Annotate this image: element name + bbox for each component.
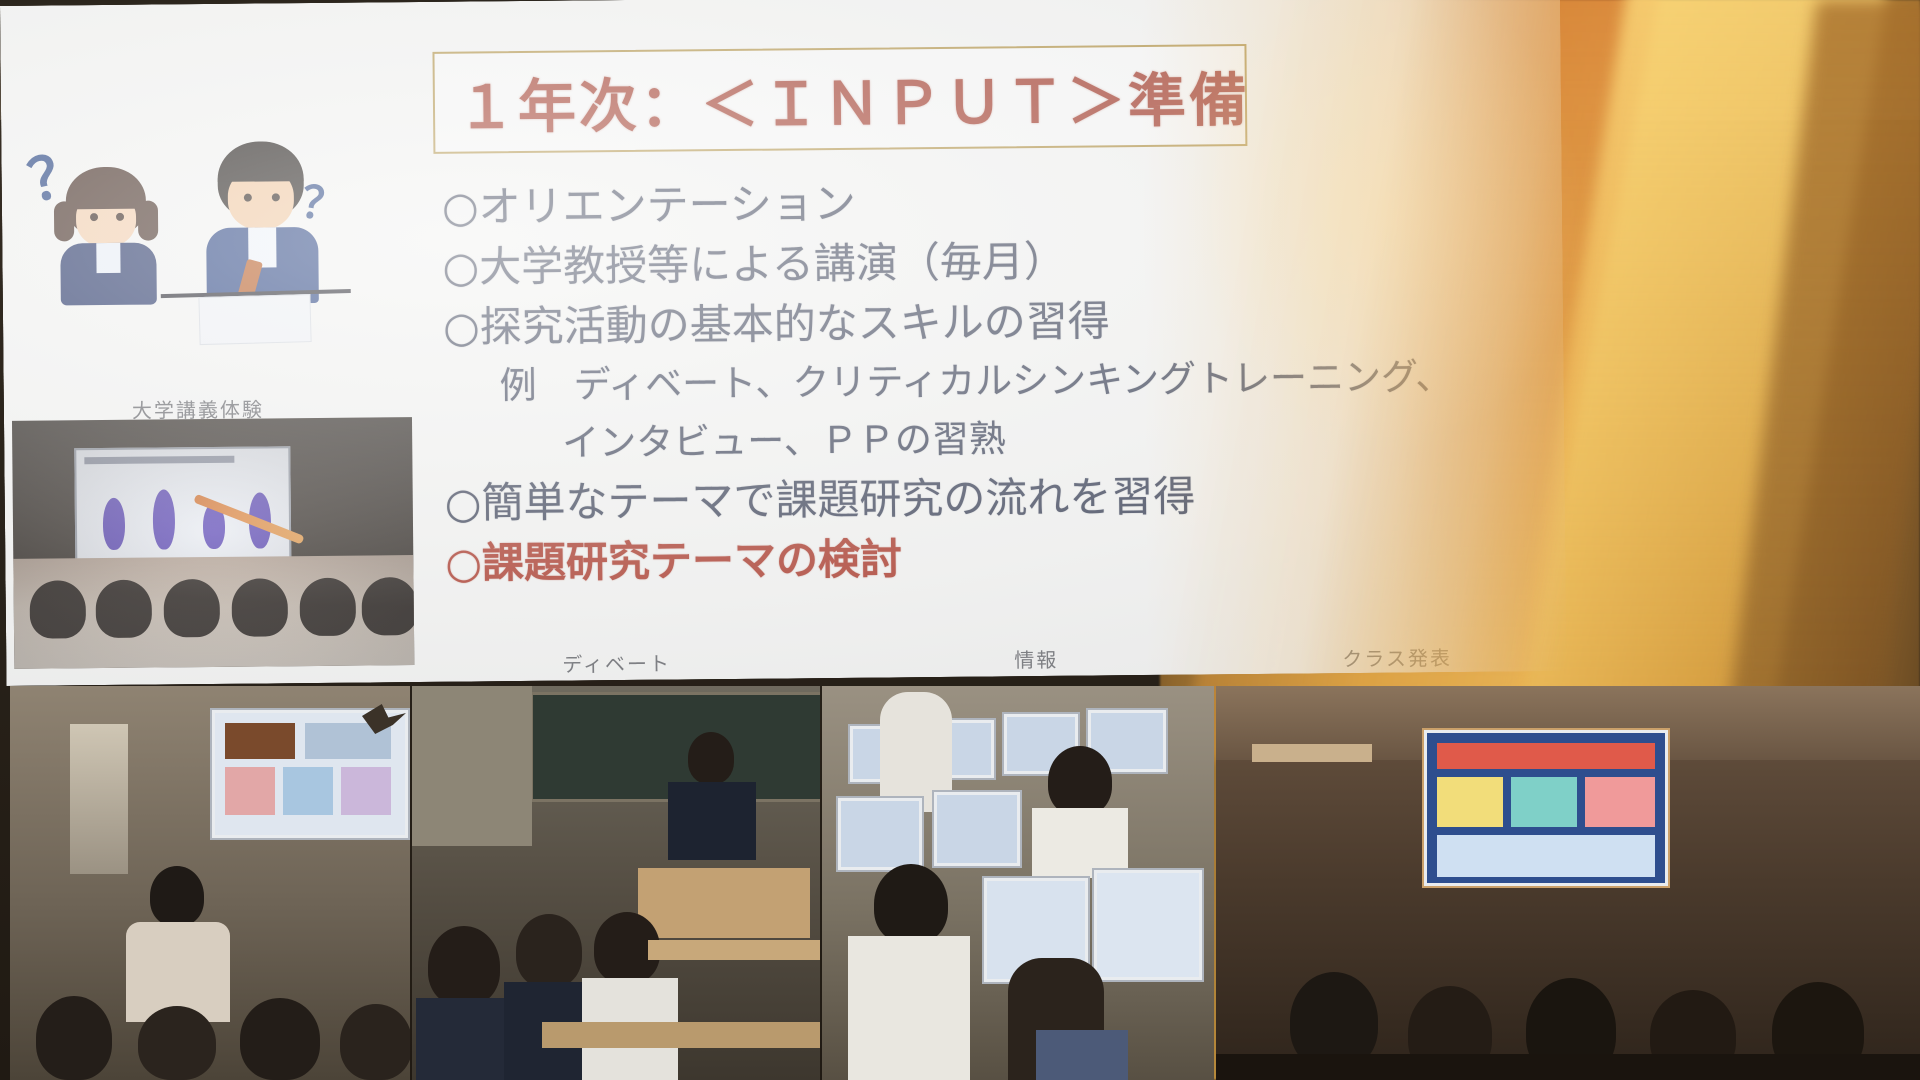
window-light	[70, 724, 128, 874]
worksheet-paper	[198, 294, 311, 345]
student-standing	[688, 732, 734, 784]
desk-row	[542, 1022, 820, 1048]
light-fixture	[1252, 744, 1372, 762]
caption-debate: ディベート	[562, 648, 671, 678]
student-girl-figure	[9, 123, 359, 126]
monitor-front-2	[1092, 868, 1204, 982]
presentation-display	[1422, 728, 1670, 888]
example-line-1: 例 ディベート、クリティカルシンキングトレーニング、	[443, 350, 1304, 416]
student-seated-2	[516, 914, 582, 988]
bullet-simple-theme: ○簡単なテーマで課題研究の流れを習得	[445, 465, 1306, 533]
desk-front	[638, 868, 810, 938]
student-back-1	[1048, 746, 1112, 816]
bullet-basic-skills: ○探究活動の基本的なスキルの習得	[443, 290, 1304, 358]
desk-row-2	[648, 940, 820, 960]
laptop-foreground	[1036, 1030, 1128, 1080]
projected-slide-photo: ？ ？	[0, 0, 1920, 1080]
caption-information: 情報	[1014, 644, 1058, 673]
bullet-university-lecture: ○大学教授等による講演（毎月）	[442, 230, 1303, 298]
photo-presentation-room	[10, 686, 410, 1080]
bullet-research-theme: ○課題研究テーマの検討	[445, 525, 1306, 593]
student-seated-1	[428, 926, 500, 1006]
question-mark-icon-right: ？	[297, 166, 351, 236]
presenter-figure	[150, 866, 204, 926]
audience-head-1	[36, 996, 112, 1080]
bullet-orientation: ○オリエンテーション	[442, 170, 1303, 238]
student-boy-figure	[9, 123, 359, 126]
two-students-thinking-illustration: ？ ？	[9, 123, 361, 366]
photo-class-presentation	[1216, 686, 1920, 1080]
photo-computer-room	[822, 686, 1214, 1080]
monitor-mid-1	[836, 796, 924, 872]
monitor-mid-2	[932, 790, 1022, 868]
classroom-wall	[412, 686, 532, 846]
slide-title-box: １年次：＜ＩＮＰＵＴ＞準備	[432, 44, 1247, 154]
photo-university-lecture	[12, 417, 414, 669]
example-line-2: インタビュー、ＰＰの習熟	[444, 408, 1305, 474]
student-seated-glasses	[874, 864, 948, 944]
slide-surface: ？ ？	[0, 0, 1566, 686]
caption-class-presentation: クラス発表	[1342, 642, 1452, 672]
photo-debate-classroom	[412, 686, 820, 1080]
page-title: １年次：＜ＩＮＰＵＴ＞準備	[457, 53, 1251, 145]
audience-head-3	[240, 998, 320, 1080]
slide-body-list: ○オリエンテーション ○大学教授等による講演（毎月） ○探究活動の基本的なスキル…	[442, 170, 1306, 594]
seat-row	[1216, 1054, 1920, 1080]
audience-head-4	[340, 1004, 410, 1080]
audience-head-2	[138, 1006, 216, 1080]
